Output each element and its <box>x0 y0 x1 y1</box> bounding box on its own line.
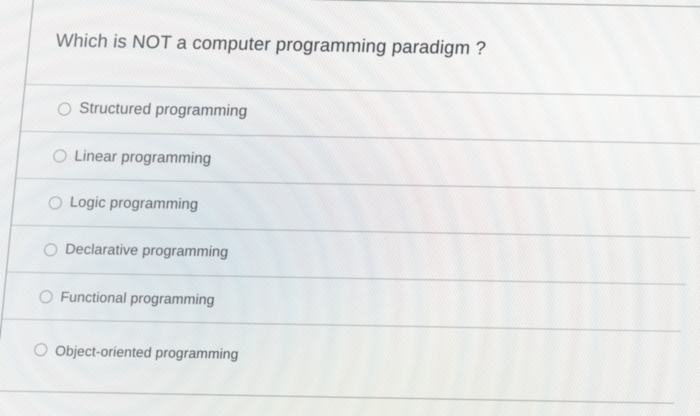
answer-option-label: Functional programming <box>60 289 216 308</box>
radio-unchecked-icon[interactable] <box>39 290 53 303</box>
answer-option-label: Logic programming <box>69 195 199 213</box>
radio-unchecked-icon[interactable] <box>44 243 58 256</box>
question-card: Which is NOT a computer programming para… <box>0 0 700 415</box>
question-card-layer: Which is NOT a computer programming para… <box>0 0 700 416</box>
question-prompt: Which is NOT a computer programming para… <box>55 28 657 62</box>
quiz-screen-photo: Which is NOT a computer programming para… <box>0 0 700 416</box>
answer-options-list: Structured programming Linear programmin… <box>0 84 700 391</box>
radio-unchecked-icon[interactable] <box>48 196 62 209</box>
radio-unchecked-icon[interactable] <box>34 343 48 356</box>
answer-option-label: Declarative programming <box>64 242 229 261</box>
radio-unchecked-icon[interactable] <box>57 102 71 115</box>
answer-option-label: Linear programming <box>74 147 213 166</box>
answer-option-label: Object-oriented programming <box>54 342 239 361</box>
card-top-border <box>33 0 700 7</box>
radio-unchecked-icon[interactable] <box>53 149 67 162</box>
card-bottom-border <box>0 390 674 403</box>
answer-option-label: Structured programming <box>78 100 248 121</box>
answer-option-object-oriented-programming[interactable]: Object-oriented programming <box>0 318 681 390</box>
